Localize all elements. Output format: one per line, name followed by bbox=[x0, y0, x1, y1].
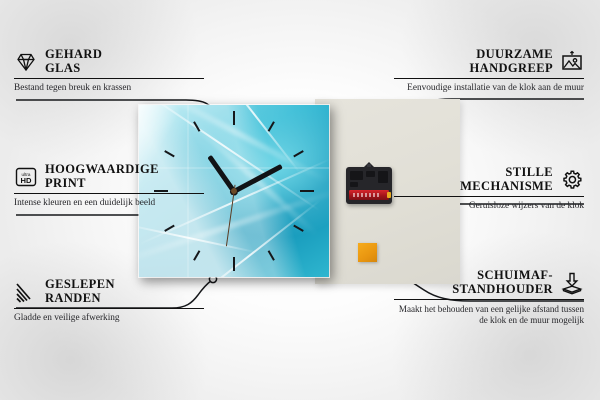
clock-tick bbox=[233, 257, 235, 271]
feature-title-line1: STILLE bbox=[505, 165, 553, 179]
feature-duurzame-handgreep[interactable]: DUURZAME HANDGREEP Eenvoudige installati… bbox=[394, 48, 584, 94]
infographic-canvas: GEHARD GLAS Bestand tegen breuk en krass… bbox=[0, 0, 600, 400]
aa-battery bbox=[349, 190, 389, 200]
feature-rule bbox=[14, 308, 204, 309]
feature-rule bbox=[14, 78, 204, 79]
feature-description: Gladde en veilige afwerking bbox=[14, 313, 204, 324]
feature-title-line2: HANDGREEP bbox=[470, 61, 553, 75]
feature-title-line2: RANDEN bbox=[45, 291, 101, 305]
gear-icon bbox=[560, 168, 584, 192]
spacer-press-icon bbox=[560, 271, 584, 295]
feature-description: Geruisloze wijzers van de klok bbox=[394, 201, 584, 212]
foam-spacer-pad bbox=[358, 243, 377, 262]
feature-description: Intense kleuren en een duidelijk beeld bbox=[14, 198, 204, 209]
feature-hoogwaardige-print[interactable]: ultra HD HOOGWAARDIGE PRINT Intense kleu… bbox=[14, 163, 204, 209]
feature-rule bbox=[14, 193, 204, 194]
feature-description: Bestand tegen breuk en krassen bbox=[14, 83, 204, 94]
feature-rule bbox=[394, 78, 584, 79]
feature-stille-mechanisme[interactable]: STILLE MECHANISME Geruisloze wijzers van… bbox=[394, 166, 584, 212]
feature-title-line1: SCHUIMAF- bbox=[477, 268, 553, 282]
feature-gehard-glas[interactable]: GEHARD GLAS Bestand tegen breuk en krass… bbox=[14, 48, 204, 94]
feature-title-line1: HOOGWAARDIGE bbox=[45, 162, 159, 176]
svg-text:HD: HD bbox=[21, 176, 32, 185]
feature-title-line1: DUURZAME bbox=[476, 47, 553, 61]
quartz-movement bbox=[346, 162, 392, 204]
feature-description: Eenvoudige installatie van de klok aan d… bbox=[394, 83, 584, 94]
clock-tick bbox=[300, 190, 314, 192]
clock-tick bbox=[233, 111, 235, 125]
feature-schuimafstandhouder[interactable]: SCHUIMAF- STANDHOUDER Maakt het behouden… bbox=[394, 269, 584, 326]
feature-title-line1: GEHARD bbox=[45, 47, 102, 61]
hands-center-cap bbox=[231, 188, 237, 194]
movement-body bbox=[346, 167, 392, 204]
feature-rule bbox=[394, 299, 584, 300]
ultra-hd-badge-icon: ultra HD bbox=[14, 165, 38, 189]
diamond-icon bbox=[14, 50, 38, 74]
feature-title-line2: GLAS bbox=[45, 61, 81, 75]
feature-title-line2: STANDHOUDER bbox=[452, 282, 553, 296]
picture-frame-icon bbox=[560, 50, 584, 74]
feature-geslepen-randen[interactable]: GESLEPEN RANDEN Gladde en veilige afwerk… bbox=[14, 278, 204, 324]
feature-title-line2: MECHANISME bbox=[460, 179, 553, 193]
feature-title-line2: PRINT bbox=[45, 176, 86, 190]
beveled-edge-icon bbox=[14, 280, 38, 304]
feature-rule bbox=[394, 196, 584, 197]
feature-description: Maakt het behouden van een gelijke afsta… bbox=[394, 304, 584, 326]
feature-title-line1: GESLEPEN bbox=[45, 277, 115, 291]
